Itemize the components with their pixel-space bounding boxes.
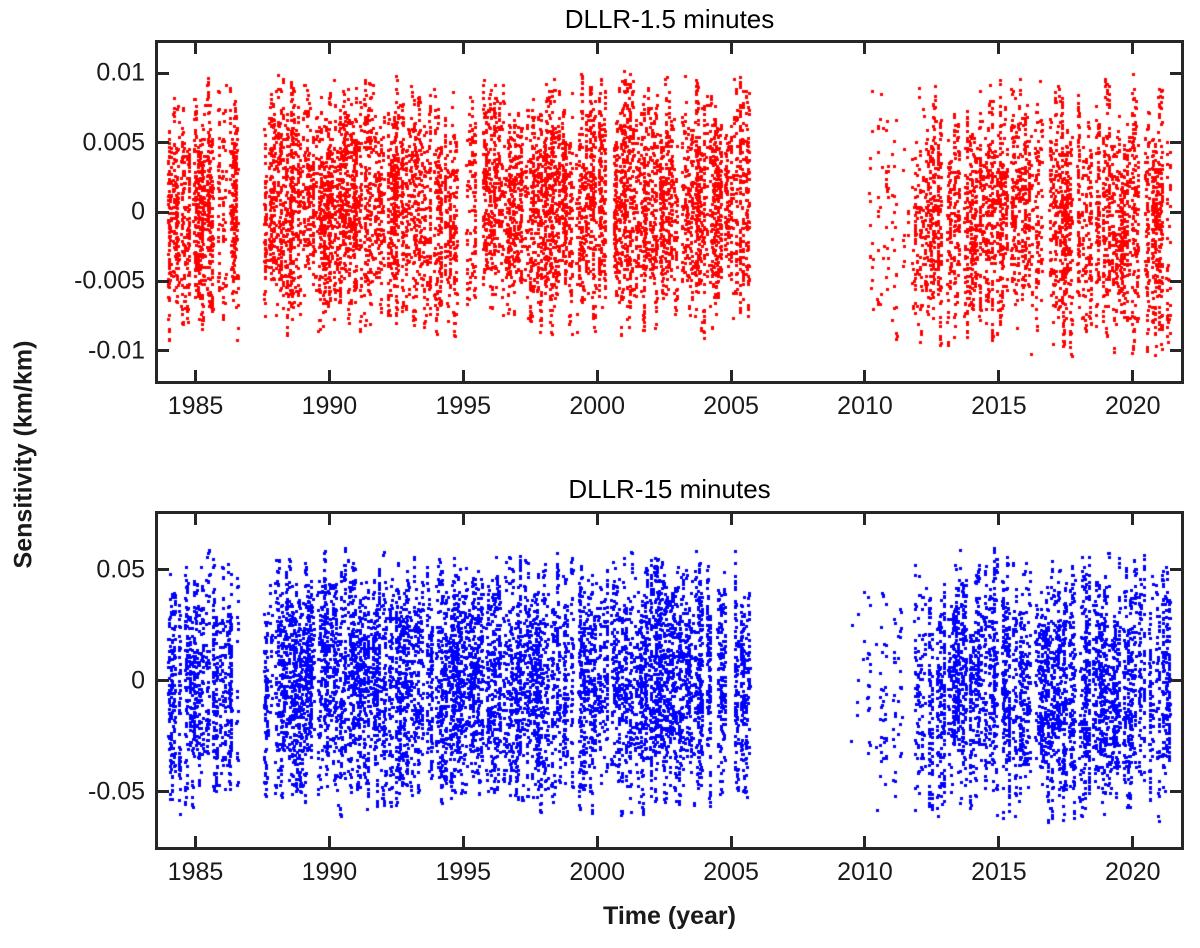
- y-tick-right-0.05: [1170, 568, 1181, 571]
- x-tick-bottom-2015: [997, 836, 1000, 847]
- y-tick-label-neg0p01: -0.01: [13, 336, 145, 365]
- x-tick-bottom-2020: [1131, 370, 1134, 381]
- x-tick-top-2020: [1131, 43, 1134, 54]
- y-tick-right-0: [1170, 679, 1181, 682]
- x-tick-top-1990: [328, 43, 331, 54]
- chart-title-top: DLLR-1.5 minutes: [155, 4, 1184, 35]
- x-tick-bottom-2015: [997, 370, 1000, 381]
- y-axis-label: Sensitivity (km/km): [10, 255, 39, 655]
- x-tick-label-1995: 1995: [435, 392, 491, 421]
- x-tick-bottom-2000: [596, 370, 599, 381]
- x-tick-bottom-1990: [328, 370, 331, 381]
- y-tick-left-0: [158, 679, 169, 682]
- chart-title-bottom: DLLR-15 minutes: [155, 474, 1184, 505]
- x-tick-label-2005: 2005: [703, 392, 759, 421]
- x-tick-label-2000: 2000: [569, 858, 625, 887]
- x-tick-top-2005: [730, 514, 733, 525]
- x-tick-top-1990: [328, 514, 331, 525]
- plot-area-top: [158, 43, 1181, 381]
- x-tick-label-2010: 2010: [837, 392, 893, 421]
- x-tick-top-2010: [863, 514, 866, 525]
- x-tick-label-2020: 2020: [1105, 858, 1161, 887]
- y-tick-label-0p05: 0.05: [13, 555, 145, 584]
- x-tick-top-2015: [997, 43, 1000, 54]
- x-tick-top-1985: [194, 43, 197, 54]
- x-tick-bottom-2000: [596, 836, 599, 847]
- x-tick-label-1990: 1990: [302, 858, 358, 887]
- x-tick-label-2015: 2015: [971, 858, 1027, 887]
- x-tick-bottom-1985: [194, 836, 197, 847]
- y-tick-right-0.005: [1170, 141, 1181, 144]
- x-tick-bottom-2005: [730, 836, 733, 847]
- chart-panel-dllr-15-minutes: [155, 511, 1184, 850]
- y-tick-right-0.01: [1170, 72, 1181, 75]
- y-tick-right--0.005: [1170, 280, 1181, 283]
- x-tick-top-2010: [863, 43, 866, 54]
- plot-area-bottom: [158, 514, 1181, 847]
- figure-root: Sensitivity (km/km) DLLR-1.5 minutes 198…: [0, 0, 1200, 948]
- x-tick-top-2020: [1131, 514, 1134, 525]
- y-tick-left-0.01: [158, 72, 169, 75]
- x-tick-top-2000: [596, 43, 599, 54]
- x-tick-top-1995: [462, 514, 465, 525]
- y-tick-left--0.005: [158, 280, 169, 283]
- x-tick-bottom-2010: [863, 370, 866, 381]
- y-tick-label-neg0p005: -0.005: [13, 267, 145, 296]
- x-axis-label: Time (year): [155, 902, 1184, 931]
- x-tick-top-2015: [997, 514, 1000, 525]
- x-tick-label-2020: 2020: [1105, 392, 1161, 421]
- y-tick-label-neg0p05: -0.05: [13, 777, 145, 806]
- x-tick-label-2000: 2000: [569, 392, 625, 421]
- x-tick-label-1995: 1995: [435, 858, 491, 887]
- x-tick-bottom-1995: [462, 836, 465, 847]
- x-tick-bottom-1990: [328, 836, 331, 847]
- x-tick-label-2005: 2005: [703, 858, 759, 887]
- y-tick-label-0: 0: [13, 198, 145, 227]
- x-tick-top-1985: [194, 514, 197, 525]
- y-tick-right-0: [1170, 211, 1181, 214]
- x-tick-bottom-1985: [194, 370, 197, 381]
- x-tick-top-1995: [462, 43, 465, 54]
- y-tick-left-0.05: [158, 568, 169, 571]
- x-tick-bottom-2010: [863, 836, 866, 847]
- x-tick-label-2010: 2010: [837, 858, 893, 887]
- x-tick-bottom-2005: [730, 370, 733, 381]
- x-tick-label-2015: 2015: [971, 392, 1027, 421]
- y-tick-label-0p01: 0.01: [13, 59, 145, 88]
- y-tick-label-0p005: 0.005: [13, 128, 145, 157]
- y-tick-right--0.05: [1170, 790, 1181, 793]
- x-tick-top-2005: [730, 43, 733, 54]
- y-tick-left--0.05: [158, 790, 169, 793]
- x-tick-bottom-1995: [462, 370, 465, 381]
- y-tick-left--0.01: [158, 349, 169, 352]
- y-tick-label-0: 0: [13, 666, 145, 695]
- scatter-canvas-bottom: [158, 514, 1181, 847]
- x-tick-label-1990: 1990: [302, 392, 358, 421]
- y-tick-left-0.005: [158, 141, 169, 144]
- x-tick-label-1985: 1985: [168, 392, 224, 421]
- x-tick-top-2000: [596, 514, 599, 525]
- x-tick-bottom-2020: [1131, 836, 1134, 847]
- chart-panel-dllr-1p5-minutes: [155, 40, 1184, 384]
- y-tick-right--0.01: [1170, 349, 1181, 352]
- scatter-canvas-top: [158, 43, 1181, 381]
- y-tick-left-0: [158, 211, 169, 214]
- x-tick-label-1985: 1985: [168, 858, 224, 887]
